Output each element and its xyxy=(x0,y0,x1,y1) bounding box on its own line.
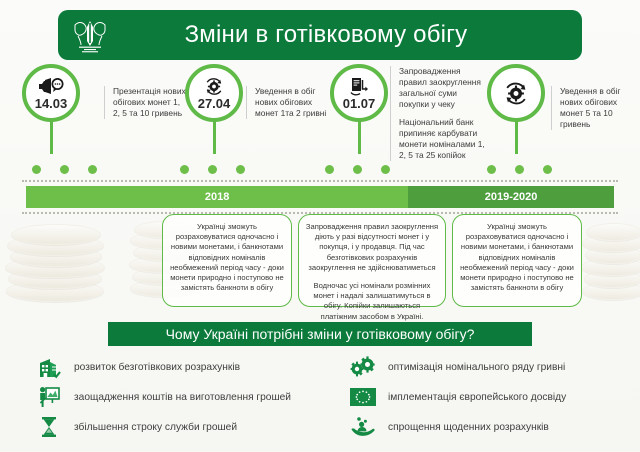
benefit-item[interactable]: розвиток безготівкових розрахунків xyxy=(34,352,320,382)
benefit-label: спрощення щоденних розрахунків xyxy=(388,422,549,433)
timeline-stem-2 xyxy=(213,121,216,154)
timeline-description-1: Презентація нових обігових монет 1, 2, 5… xyxy=(104,86,186,119)
timeline-marker-3[interactable]: 01.07 xyxy=(330,64,388,122)
timeline-dot xyxy=(515,165,524,174)
timeline-stem-4 xyxy=(515,121,518,154)
timeline-dot xyxy=(325,165,334,174)
gears-icon xyxy=(348,354,378,380)
timeline-marker-1[interactable]: 14.03 xyxy=(22,64,80,122)
benefit-item[interactable]: заощадження коштів на виготовлення гроше… xyxy=(34,382,320,412)
timeline-dot xyxy=(353,165,362,174)
cashless-building-icon xyxy=(34,354,64,380)
timeline-dot xyxy=(180,165,189,174)
timeline-dotted-rule-top xyxy=(22,180,618,183)
benefit-label: оптимізація номінального ряду гривні xyxy=(388,362,565,373)
timeline-description-2: Уведення в обіг нових обігових монет 1та… xyxy=(246,86,329,119)
timeline-event-2[interactable]: 27.04 xyxy=(185,64,243,122)
benefit-label: імплементація європейського досвіду xyxy=(388,392,566,403)
benefit-label: збільшення строку служби грошей xyxy=(74,422,237,433)
megaphone-announcement-icon xyxy=(38,77,64,96)
timeline-description-4-line-1: Уведення в обіг нових обігових монет 5 т… xyxy=(560,86,636,130)
timeline-description-4: Уведення в обіг нових обігових монет 5 т… xyxy=(551,86,636,130)
timeline-date-2: 27.04 xyxy=(198,97,231,111)
timeline-description-2-line-1: Уведення в обіг нових обігових монет 1та… xyxy=(255,86,329,119)
benefit-item[interactable]: спрощення щоденних розрахунків xyxy=(348,412,640,442)
benefit-label: заощадження коштів на виготовлення гроше… xyxy=(74,392,291,403)
timeline-description-3: Запровадження правил заокруглення загаль… xyxy=(390,66,487,161)
page-title: Зміни в готівковому обігу xyxy=(120,21,582,49)
benefit-item[interactable]: збільшення строку служби грошей xyxy=(34,412,320,442)
note-card-2-paragraph-2: Водночас усі номінали розмінних монет і … xyxy=(305,281,439,322)
timeline-marker-4[interactable] xyxy=(487,64,545,122)
timeline-stem-1 xyxy=(50,121,53,154)
benefits-section: розвиток безготівкових розрахунків заоща… xyxy=(0,352,640,448)
timeline-event-4[interactable] xyxy=(487,64,545,122)
hand-people-icon xyxy=(348,414,378,440)
benefits-column-right: оптимізація номінального ряду гривні xyxy=(320,352,640,448)
timeline-date-1: 14.03 xyxy=(35,97,68,111)
nbu-emblem-icon xyxy=(68,15,112,55)
coin-stack-left xyxy=(4,216,109,308)
presentation-person-icon xyxy=(34,384,64,410)
question-banner: Чому Україні потрібні зміни у готівковом… xyxy=(108,322,532,346)
timeline-description-3-line-1: Запровадження правил заокруглення загаль… xyxy=(399,66,487,110)
header-bar: Зміни в готівковому обігу xyxy=(58,10,582,60)
timeline-event-3[interactable]: 01.07 xyxy=(330,64,388,122)
timeline-year-bar: 2018 2019-2020 xyxy=(26,186,614,208)
note-card-2: Запровадження правил заокруглення діють … xyxy=(298,214,446,307)
timeline-dot xyxy=(60,165,69,174)
infographic-canvas: Зміни в готівковому обігу 14.03 xyxy=(0,0,640,452)
coin-stack-right xyxy=(580,216,640,308)
note-card-2-paragraph-1: Запровадження правил заокруглення діють … xyxy=(305,222,439,273)
benefit-item[interactable]: імплементація європейського досвіду xyxy=(348,382,640,412)
note-card-3: Українці зможуть розраховуватися одночас… xyxy=(452,214,582,307)
eu-flag-icon xyxy=(348,384,378,410)
notes-section: Українці зможуть розраховуватися одночас… xyxy=(0,210,640,315)
timeline-dot xyxy=(381,165,390,174)
gear-cycle-icon xyxy=(503,80,529,106)
note-card-1-paragraph-1: Українці зможуть розраховуватися одночас… xyxy=(169,222,285,293)
benefits-column-left: розвиток безготівкових розрахунків заоща… xyxy=(0,352,320,448)
timeline-description-3-line-2: Національний банк припиняє карбувати мон… xyxy=(399,117,487,161)
timeline-dot-row xyxy=(0,165,640,177)
timeline-date-3: 01.07 xyxy=(343,97,376,111)
timeline-description-1-line-1: Презентація нових обігових монет 1, 2, 5… xyxy=(113,86,186,119)
timeline-event-1[interactable]: 14.03 xyxy=(22,64,80,122)
year-segment-2019-2020: 2019-2020 xyxy=(408,186,614,208)
year-segment-2018: 2018 xyxy=(26,186,408,208)
timeline-dot xyxy=(236,165,245,174)
timeline-dot xyxy=(32,165,41,174)
timeline-marker-2[interactable]: 27.04 xyxy=(185,64,243,122)
benefit-label: розвиток безготівкових розрахунків xyxy=(74,362,240,373)
timeline-stem-3 xyxy=(358,121,361,154)
receipt-rounding-icon xyxy=(349,77,369,96)
timeline-dot xyxy=(208,165,217,174)
timeline: 14.03 Презентація нових обігових монет 1… xyxy=(0,64,640,204)
timeline-dot xyxy=(487,165,496,174)
note-card-1: Українці зможуть розраховуватися одночас… xyxy=(162,214,292,307)
timeline-dot xyxy=(88,165,97,174)
benefit-item[interactable]: оптимізація номінального ряду гривні xyxy=(348,352,640,382)
timeline-dot xyxy=(543,165,552,174)
note-card-3-paragraph-1: Українці зможуть розраховуватися одночас… xyxy=(459,222,575,293)
hourglass-icon xyxy=(34,414,64,440)
gear-cycle-icon xyxy=(204,77,224,96)
